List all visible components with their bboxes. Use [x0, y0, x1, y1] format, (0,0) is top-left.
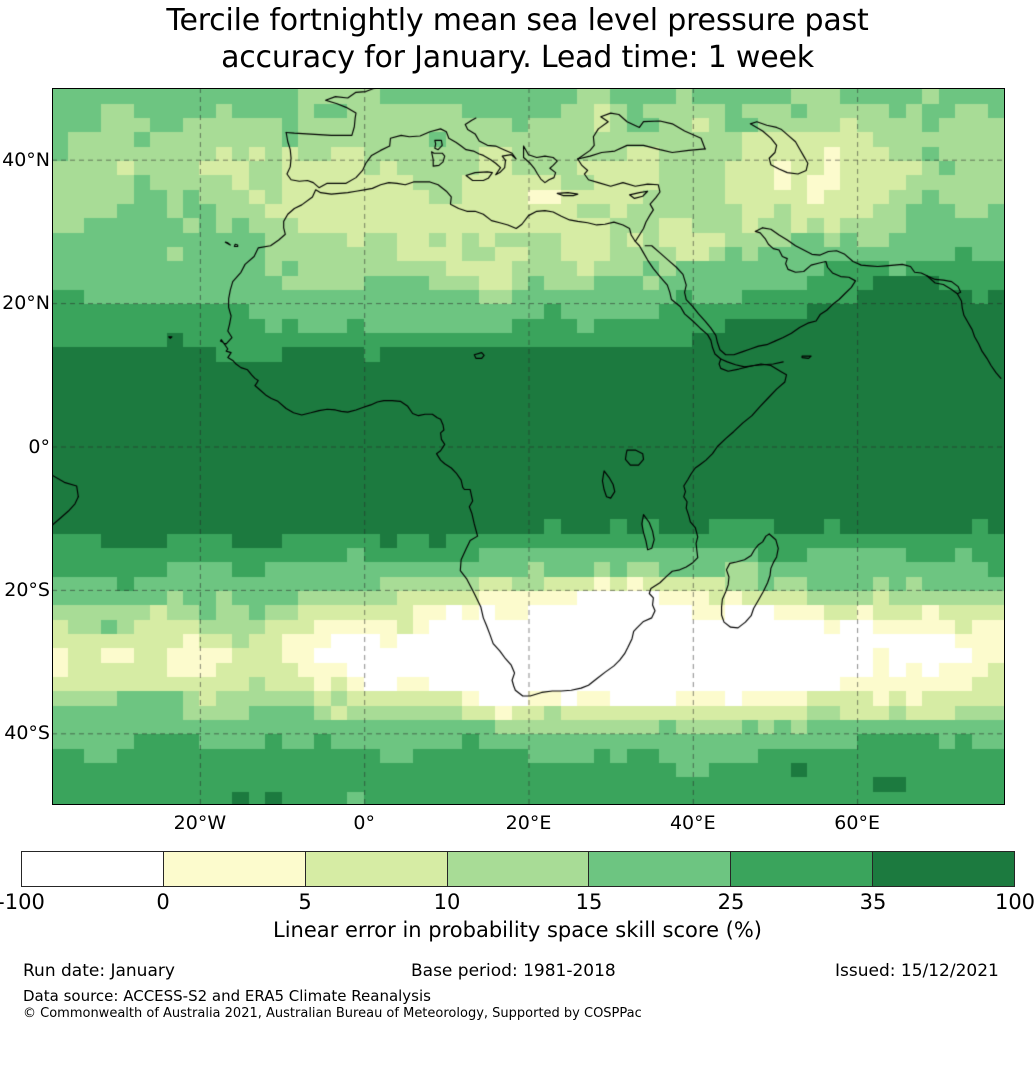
colorbar-tick-5: 5 — [298, 890, 311, 914]
colorbar-segment-5 — [731, 852, 873, 886]
colorbar-axis-label: Linear error in probability space skill … — [0, 918, 1035, 942]
colorbar-segment-6 — [873, 852, 1014, 886]
colorbar-tick-0: 0 — [156, 890, 169, 914]
footer-metadata-row: Run date: January Base period: 1981-2018… — [0, 961, 1035, 983]
colorbar-segment-1 — [164, 852, 306, 886]
colorbar-segment-0 — [22, 852, 164, 886]
footer-base-period: Base period: 1981-2018 — [411, 961, 616, 981]
longitude-tick-0°: 0° — [353, 812, 375, 834]
colorbar-tick-100: 100 — [995, 890, 1035, 914]
latitude-tick-20°N: 20°N — [2, 292, 50, 314]
colorbar-segment-4 — [589, 852, 731, 886]
latitude-tick-20°S: 20°S — [4, 579, 50, 601]
latitude-tick-40°S: 40°S — [4, 722, 50, 744]
colorbar-tick--100: -100 — [0, 890, 45, 914]
colorbar-tick-35: 35 — [860, 890, 887, 914]
colorbar-tick-10: 10 — [434, 890, 461, 914]
latitude-tick-0°: 0° — [28, 436, 50, 458]
colorbar-tick-25: 25 — [718, 890, 745, 914]
longitude-tick-20°W: 20°W — [174, 812, 226, 834]
colorbar-segment-3 — [448, 852, 590, 886]
colorbar — [21, 851, 1015, 887]
longitude-tick-20°E: 20°E — [506, 812, 552, 834]
latitude-tick-40°N: 40°N — [2, 149, 50, 171]
longitude-tick-40°E: 40°E — [670, 812, 716, 834]
footer-issued-date: Issued: 15/12/2021 — [835, 961, 999, 981]
footer-run-date: Run date: January — [23, 961, 175, 981]
longitude-tick-60°E: 60°E — [834, 812, 880, 834]
colorbar-tick-15: 15 — [576, 890, 603, 914]
colorbar-segment-2 — [306, 852, 448, 886]
footer-copyright: © Commonwealth of Australia 2021, Austra… — [23, 1006, 642, 1021]
footer-data-source: Data source: ACCESS-S2 and ERA5 Climate … — [23, 987, 431, 1005]
